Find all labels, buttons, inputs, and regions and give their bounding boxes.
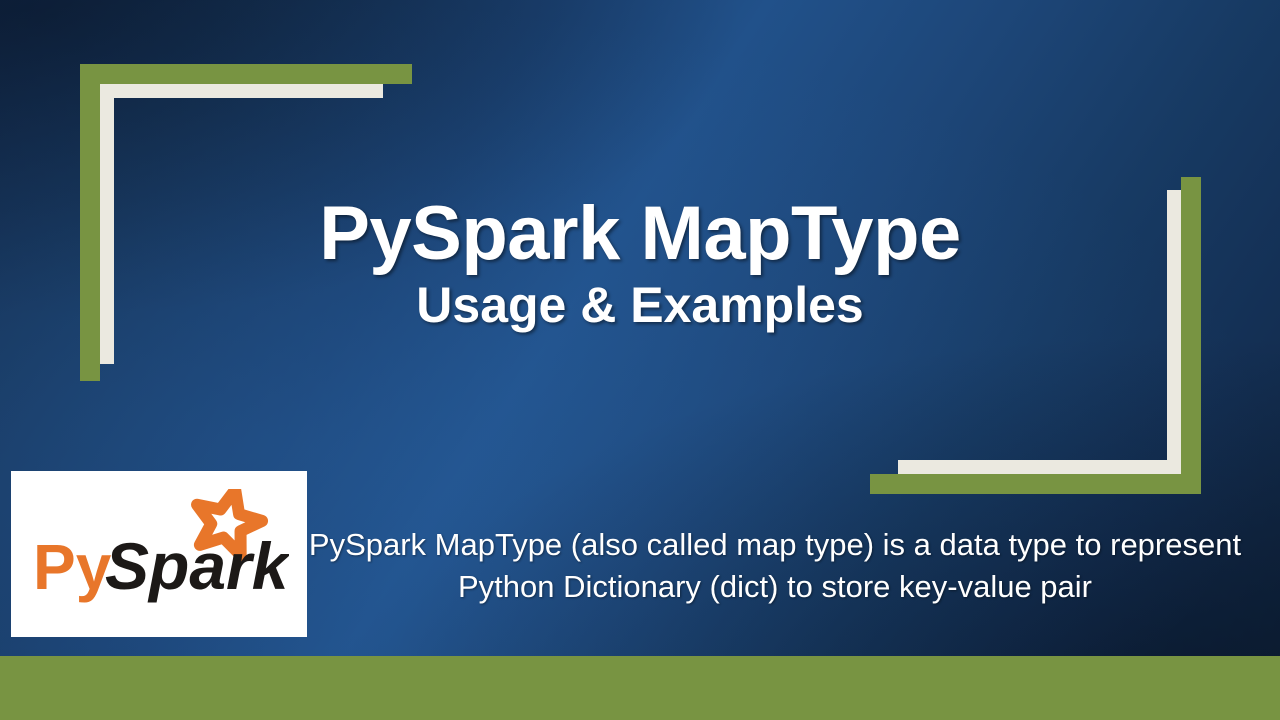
pyspark-logo-icon: Py Spark <box>29 489 289 619</box>
title-block: PySpark MapType Usage & Examples <box>0 196 1280 330</box>
footer-band <box>0 656 1280 720</box>
slide-subtitle: Usage & Examples <box>0 280 1280 330</box>
bottom-right-bracket-cream-horizontal <box>898 460 1181 474</box>
slide-body-text: PySpark MapType (also called map type) i… <box>300 524 1250 608</box>
bottom-right-bracket-green-horizontal <box>870 474 1201 494</box>
logo-text-spark: Spark <box>105 529 289 603</box>
top-left-bracket-cream-horizontal <box>100 84 383 98</box>
pyspark-logo-card: Py Spark <box>11 471 307 637</box>
slide-canvas: PySpark MapType Usage & Examples PySpark… <box>0 0 1280 720</box>
logo-text-py: Py <box>33 531 112 603</box>
body-line-2: Python Dictionary (dict) to store key-va… <box>300 566 1250 608</box>
top-left-bracket-green-horizontal <box>80 64 412 84</box>
slide-title: PySpark MapType <box>0 196 1280 272</box>
body-line-1: PySpark MapType (also called map type) i… <box>300 524 1250 566</box>
